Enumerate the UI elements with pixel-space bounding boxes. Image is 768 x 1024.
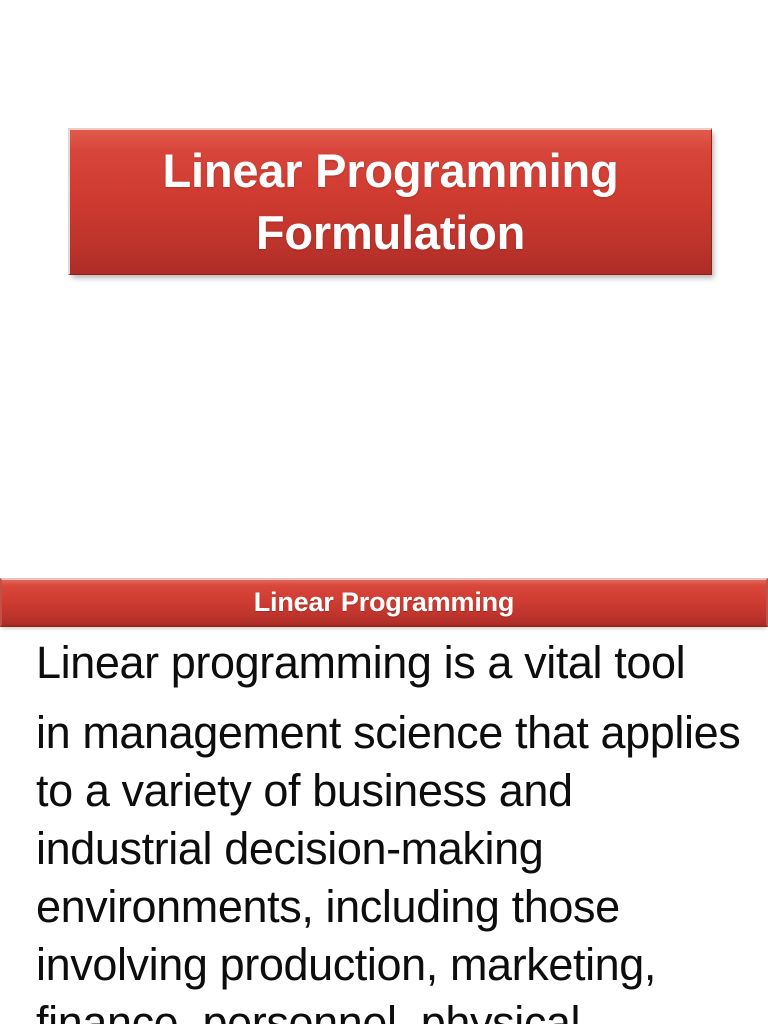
body-line: involving production, marketing, xyxy=(36,936,748,994)
section-header-label: Linear Programming xyxy=(254,589,514,616)
section-header-bar: Linear Programming xyxy=(0,578,768,627)
body-line: finance, personnel, physical xyxy=(36,994,748,1024)
slide-canvas: Linear Programming Formulation Linear Pr… xyxy=(0,0,768,1024)
body-line: to a variety of business and xyxy=(36,762,748,820)
body-line: industrial decision-making xyxy=(36,820,748,878)
body-line: environments, including those xyxy=(36,878,748,936)
body-line: Linear programming is a vital tool xyxy=(36,634,748,692)
body-text-block: Linear programming is a vital tool in ma… xyxy=(36,634,748,1024)
body-line: in management science that applies xyxy=(36,704,748,762)
page-title: Linear Programming Formulation xyxy=(70,140,711,265)
title-banner: Linear Programming Formulation xyxy=(68,128,712,275)
